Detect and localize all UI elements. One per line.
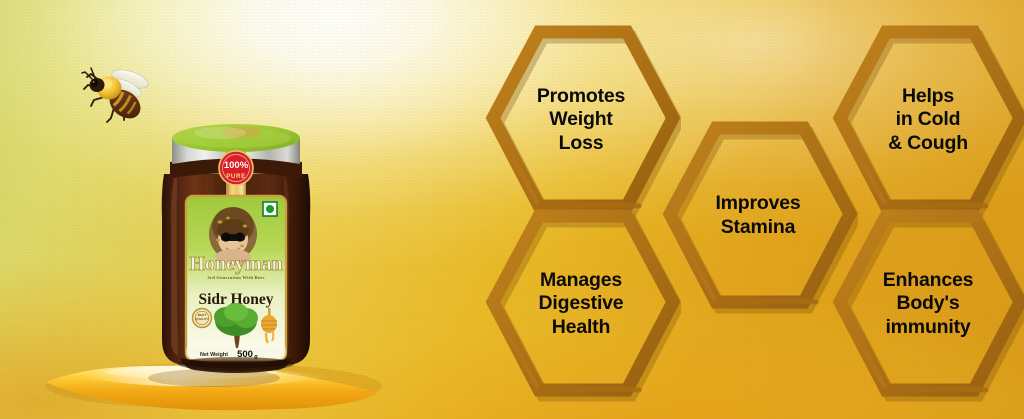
svg-text:QUALITY: QUALITY	[195, 317, 210, 321]
veg-mark-icon	[263, 202, 277, 216]
benefit-hexagon-weight-loss[interactable]: Promotes Weight Loss	[481, 22, 681, 218]
honey-product-banner: 100% PURE	[0, 0, 1024, 419]
brand-tagline: 3rd Generation With Bees	[207, 275, 264, 280]
benefit-hexagon-immunity[interactable]: Enhances Body's immunity	[828, 206, 1024, 402]
honey-bee-icon	[78, 52, 154, 130]
honey-jar: 100% PURE	[150, 112, 322, 374]
purity-badge: 100% PURE	[219, 151, 253, 185]
svg-text:PURE: PURE	[226, 173, 246, 180]
brand-name: Honeyman	[189, 253, 282, 275]
quality-seal-icon: BEST QUALITY	[193, 309, 212, 328]
svg-text:100%: 100%	[224, 160, 249, 171]
benefit-hexagon-cold-cough[interactable]: Helps in Cold & Cough	[828, 22, 1024, 218]
benefit-hexagon-digestive-health[interactable]: Manages Digestive Health	[481, 206, 681, 402]
benefits-hexagon-grid: Promotes Weight Loss Manages Digestive H…	[450, 0, 1024, 419]
product-zone: 100% PURE	[0, 0, 450, 419]
jar-label: Honeyman 3rd Generation With Bees Sidr H…	[186, 196, 286, 360]
net-weight-label: Net Weight	[200, 352, 228, 358]
